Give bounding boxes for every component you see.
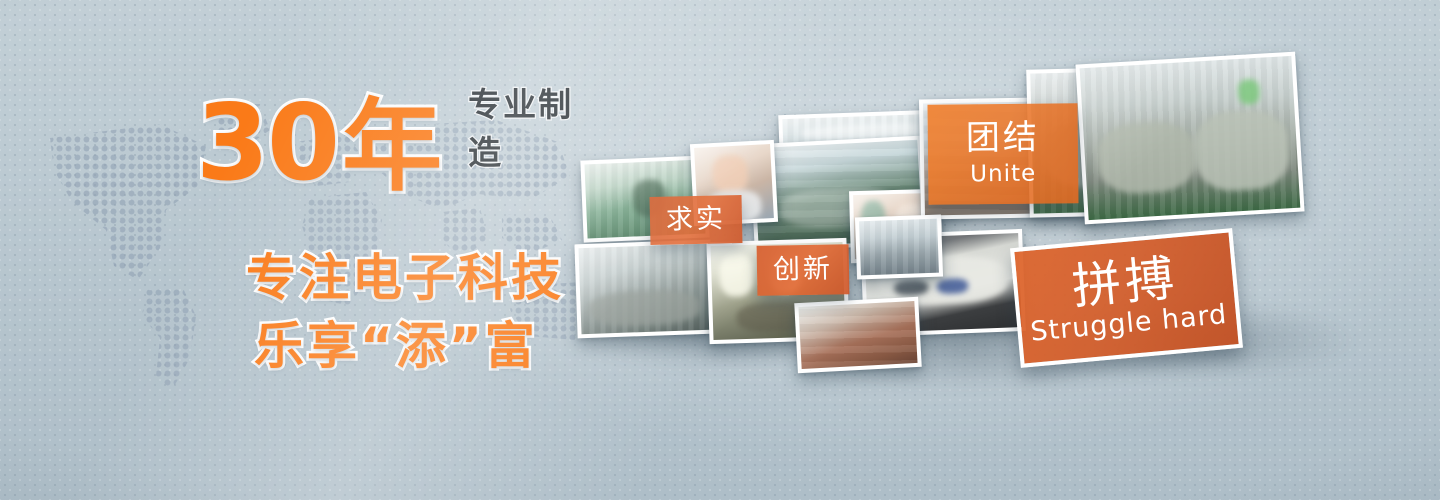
value-card-unite[interactable]: 团结 Unite xyxy=(927,103,1078,205)
photo-smt-machines xyxy=(1075,52,1304,225)
years-number: 30 xyxy=(196,94,338,194)
value-card-chuangxin[interactable]: 创新 xyxy=(757,244,850,296)
photo-reflow-oven xyxy=(574,240,713,339)
photo-loading-dock xyxy=(855,215,943,280)
value-card-unite-cn: 团结 xyxy=(966,120,1040,156)
promo-banner: 30 年 专业制造 专注电子科技 乐享“添”富 xyxy=(0,0,1440,500)
slogan-line-2: 乐享“添”富 xyxy=(254,306,538,378)
value-card-qiushi-cn: 求实 xyxy=(666,205,727,235)
headline-block: 30 年 专业制造 专注电子科技 乐享“添”富 xyxy=(0,0,600,500)
slogan-line-1: 专注电子科技 xyxy=(246,238,564,310)
value-card-struggle[interactable]: 拼搏 Struggle hard xyxy=(1010,228,1243,368)
value-card-unite-en: Unite xyxy=(970,161,1036,188)
years-unit: 年 xyxy=(342,99,442,194)
photo-cabinets xyxy=(794,297,921,373)
headline-years-row: 30 年 专业制造 xyxy=(196,78,600,194)
value-card-qiushi[interactable]: 求实 xyxy=(650,195,743,245)
value-card-chuangxin-cn: 创新 xyxy=(773,255,833,284)
photo-collage: 求实 创新 团结 Unite 拼搏 Struggle hard xyxy=(560,0,1440,500)
